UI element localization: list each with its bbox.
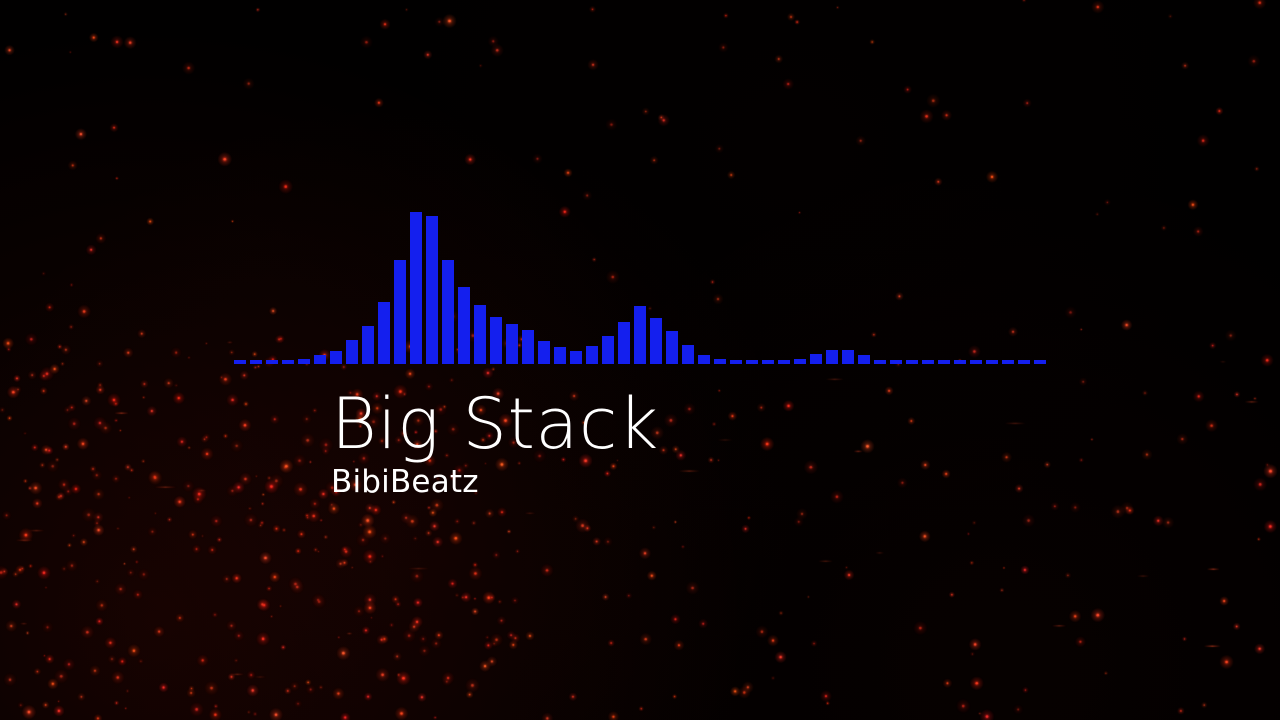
track-title: Big Stack [331,386,971,462]
spectrum-bar [394,260,406,364]
spectrum-bar [442,260,454,364]
spectrum-bar [282,360,294,364]
spectrum-bar [810,354,822,364]
spectrum-bar [474,305,486,364]
spectrum-bar [762,360,774,364]
visualizer-scene: Big Stack BibiBeatz [0,0,1280,720]
spectrum-bar [618,322,630,364]
spectrum-bar [970,360,982,364]
track-info: Big Stack BibiBeatz [331,386,971,500]
audio-visualizer [234,200,1046,364]
spectrum-bar [346,340,358,364]
spectrum-bar [1018,360,1030,364]
spectrum-bar [874,360,886,364]
spectrum-bar [890,360,902,364]
spectrum-bar [234,360,246,364]
spectrum-bar [314,355,326,364]
spectrum-bar [490,317,502,364]
spectrum-bar [922,360,934,364]
spectrum-bar [666,331,678,364]
spectrum-bar [650,318,662,364]
spectrum-bar [506,324,518,364]
spectrum-bar [266,360,278,364]
spectrum-bar [730,360,742,364]
spectrum-bar [634,306,646,364]
track-artist: BibiBeatz [331,464,971,500]
spectrum-bar [986,360,998,364]
spectrum-bar [458,287,470,364]
spectrum-bar [522,330,534,364]
spectrum-bar [842,350,854,364]
spectrum-bar [538,341,550,364]
spectrum-bar [906,360,918,364]
spectrum-bar [554,347,566,364]
spectrum-bar [330,351,342,364]
spectrum-bar [586,346,598,364]
spectrum-bar [746,360,758,364]
spectrum-bar [250,360,262,364]
spectrum-bar [714,359,726,364]
spectrum-bar [378,302,390,364]
spectrum-bar [778,360,790,364]
spectrum-bar [938,360,950,364]
spectrum-bar [826,350,838,364]
spectrum-bar [410,212,422,364]
spectrum-bar [858,355,870,364]
spectrum-bar [794,359,806,364]
spectrum-bars [234,200,1046,364]
spectrum-bar [298,359,310,364]
spectrum-bar [682,345,694,364]
spectrum-bar [698,355,710,364]
spectrum-bar [362,326,374,364]
spectrum-bar [602,336,614,364]
spectrum-bar [1034,360,1046,364]
spectrum-bar [1002,360,1014,364]
spectrum-bar [570,351,582,364]
spectrum-bar [426,216,438,364]
spectrum-bar [954,360,966,364]
